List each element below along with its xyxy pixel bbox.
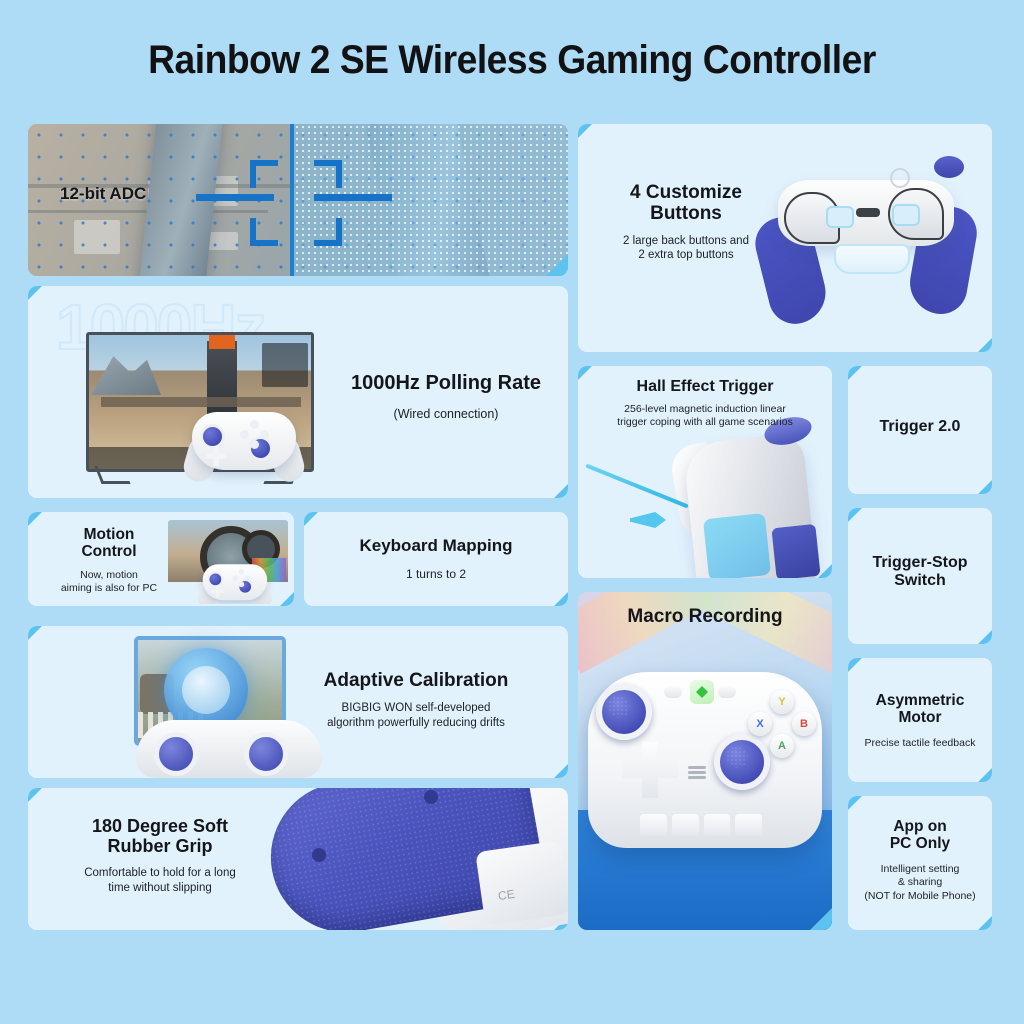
home-button-icon — [690, 680, 714, 704]
keyboard-subtitle: 1 turns to 2 — [304, 567, 568, 583]
card-rubber-grip: CE 180 Degree Soft Rubber Grip Comfortab… — [28, 788, 568, 930]
grip-title-line2: Rubber Grip — [50, 836, 270, 856]
app-sub-line3: (NOT for Mobile Phone) — [848, 890, 992, 904]
controller-back-image — [738, 138, 988, 343]
button-x: X — [748, 712, 772, 736]
asym-subtitle: Precise tactile feedback — [848, 737, 992, 751]
crop-bracket-icon — [314, 218, 342, 246]
app-title-line2: PC Only — [848, 835, 992, 852]
ce-marking: CE — [497, 887, 515, 903]
grip-sub-line2: time without slipping — [50, 881, 270, 896]
usb-port-icon — [856, 208, 880, 217]
crop-bracket-icon — [314, 160, 342, 188]
card-macro-recording: Macro Recording Y X B A — [578, 592, 832, 930]
customize-title-line1: 4 Customize — [600, 182, 772, 203]
triggerstop-title-line1: Trigger-Stop — [848, 554, 992, 572]
crop-bracket-icon — [250, 160, 278, 188]
card-12bit-adc: 12-bit ADC — [28, 124, 568, 276]
button-b: B — [792, 712, 816, 736]
asym-title-line2: Motor — [848, 709, 992, 726]
card-keyboard-mapping: Keyboard Mapping 1 turns to 2 — [304, 512, 568, 606]
card-asymmetric-motor: Asymmetric Motor Precise tactile feedbac… — [848, 658, 992, 782]
card-adaptive-calibration: Adaptive Calibration BIGBIG WON self-dev… — [28, 626, 568, 778]
page-title: Rainbow 2 SE Wireless Gaming Controller — [36, 38, 988, 83]
app-sub-line1: Intelligent setting — [848, 863, 992, 877]
grip-title-line1: 180 Degree Soft — [50, 816, 270, 836]
card-trigger-20: Trigger 2.0 — [848, 366, 992, 494]
app-title-line1: App on — [848, 818, 992, 835]
controller-top-image: Y X B A — [582, 664, 828, 876]
hall-title: Hall Effect Trigger — [586, 378, 824, 396]
asym-title-line1: Asymmetric — [848, 692, 992, 709]
motion-sub-line1: Now, motion — [44, 569, 174, 583]
infographic-page: Rainbow 2 SE Wireless Gaming Controller … — [0, 0, 1024, 1024]
card-app-on-pc: App on PC Only Intelligent setting & sha… — [848, 796, 992, 930]
customize-sub-line2: 2 extra top buttons — [600, 248, 772, 263]
motion-gameplay-image — [168, 520, 288, 604]
motion-sub-line2: aiming is also for PC — [44, 582, 174, 596]
keyboard-title: Keyboard Mapping — [304, 536, 568, 555]
grip-sub-line1: Comfortable to hold for a long — [50, 866, 270, 881]
card-trigger-stop-switch: Trigger-Stop Switch — [848, 508, 992, 644]
adaptive-sub-line1: BIGBIG WON self-developed — [282, 701, 550, 716]
macro-title: Macro Recording — [578, 606, 832, 627]
hall-sub-line2: trigger coping with all game scenarios — [586, 416, 824, 429]
adc-label: 12-bit ADC — [60, 184, 146, 204]
crop-bracket-icon — [250, 218, 278, 246]
controller-front-image — [178, 402, 310, 486]
adaptive-sub-line2: algorithm powerfully reducing drifts — [282, 716, 550, 731]
hall-sub-line1: 256-level magnetic induction linear — [586, 403, 824, 416]
polling-subtitle: (Wired connection) — [328, 406, 564, 422]
triggerstop-title-line2: Switch — [848, 572, 992, 590]
card-customize-buttons: 4 Customize Buttons 2 large back buttons… — [578, 124, 992, 352]
customize-sub-line1: 2 large back buttons and — [600, 234, 772, 249]
card-hall-effect-trigger: Hall Effect Trigger 256-level magnetic i… — [578, 366, 832, 578]
motion-title-line2: Control — [44, 543, 174, 560]
polling-title: 1000Hz Polling Rate — [328, 372, 564, 394]
motion-title-line1: Motion — [44, 526, 174, 543]
button-a: A — [770, 734, 794, 758]
customize-title-line2: Buttons — [600, 203, 772, 224]
trigger20-title: Trigger 2.0 — [848, 418, 992, 436]
app-sub-line2: & sharing — [848, 876, 992, 890]
adaptive-title: Adaptive Calibration — [282, 670, 550, 691]
button-y: Y — [770, 690, 794, 714]
card-polling-rate: 1000Hz — [28, 286, 568, 498]
card-motion-control: Motion Control Now, motion aiming is als… — [28, 512, 294, 606]
